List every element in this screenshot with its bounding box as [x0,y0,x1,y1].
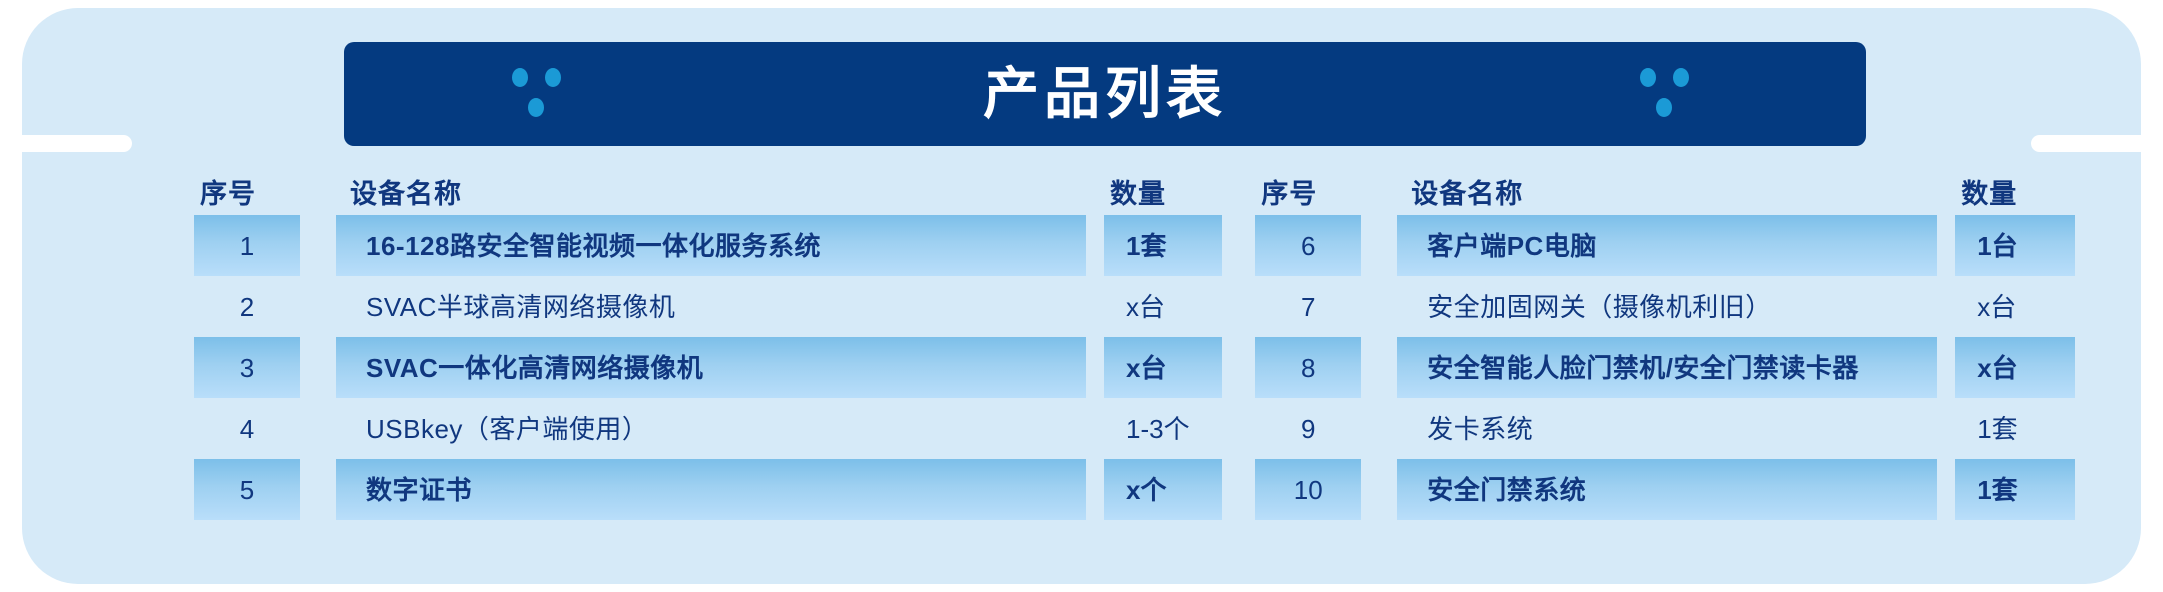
table-row: 7安全加固网关（摄像机利旧）x台 [1255,276,2141,337]
row-device-name-cell: SVAC一体化高清网络摄像机 [336,337,1086,398]
row-index-cell: 6 [1255,215,1361,276]
row-quantity-cell: x个 [1104,459,1222,520]
row-quantity-cell: 1台 [1955,215,2075,276]
product-list-panel: 产品列表 序号 设备名称 数量 116-128路安全智能视频一体化服务系统1套2… [22,8,2141,584]
row-index-cell: 3 [194,337,300,398]
row-quantity-cell: x台 [1955,276,2075,337]
column-header-index: 序号 [1255,172,1361,211]
column-header-quantity: 数量 [1104,172,1222,211]
row-quantity-cell: 1套 [1955,459,2075,520]
table-row: 8安全智能人脸门禁机/安全门禁读卡器x台 [1255,337,2141,398]
row-quantity-cell: 1套 [1955,398,2075,459]
row-device-name-cell: 安全门禁系统 [1397,459,1937,520]
row-index-cell: 9 [1255,398,1361,459]
triangle-dots-icon-right [1640,68,1698,120]
table-row: 4USBkey（客户端使用）1-3个 [194,398,1222,459]
table-header-row-right: 序号 设备名称 数量 [1255,163,2141,215]
row-device-name-cell: USBkey（客户端使用） [336,398,1086,459]
table-row: 3SVAC一体化高清网络摄像机x台 [194,337,1222,398]
row-quantity-cell: 1-3个 [1104,398,1222,459]
table-row: 10安全门禁系统1套 [1255,459,2141,520]
table-row: 6客户端PC电脑1台 [1255,215,2141,276]
row-quantity-cell: x台 [1104,276,1222,337]
row-device-name-cell: 16-128路安全智能视频一体化服务系统 [336,215,1086,276]
product-table-right: 序号 设备名称 数量 6客户端PC电脑1台7安全加固网关（摄像机利旧）x台8安全… [1255,163,2141,520]
column-header-name: 设备名称 [1397,172,1937,211]
row-index-cell: 2 [194,276,300,337]
row-quantity-cell: x台 [1955,337,2075,398]
tables-container: 序号 设备名称 数量 116-128路安全智能视频一体化服务系统1套2SVAC半… [22,163,2141,520]
row-index-cell: 10 [1255,459,1361,520]
row-device-name-cell: 发卡系统 [1397,398,1937,459]
row-device-name-cell: 客户端PC电脑 [1397,215,1937,276]
table-header-row-left: 序号 设备名称 数量 [194,163,1222,215]
column-header-name: 设备名称 [336,172,1086,211]
row-index-cell: 8 [1255,337,1361,398]
panel-notch-right [2031,135,2163,152]
row-quantity-cell: x台 [1104,337,1222,398]
row-index-cell: 1 [194,215,300,276]
row-device-name-cell: 数字证书 [336,459,1086,520]
product-table-left: 序号 设备名称 数量 116-128路安全智能视频一体化服务系统1套2SVAC半… [194,163,1222,520]
row-device-name-cell: 安全加固网关（摄像机利旧） [1397,276,1937,337]
column-header-quantity: 数量 [1955,172,2075,211]
row-index-cell: 7 [1255,276,1361,337]
panel-notch-left [0,135,132,152]
table-row: 2SVAC半球高清网络摄像机x台 [194,276,1222,337]
header-bar: 产品列表 [344,42,1866,146]
table-row: 9发卡系统1套 [1255,398,2141,459]
row-device-name-cell: SVAC半球高清网络摄像机 [336,276,1086,337]
row-device-name-cell: 安全智能人脸门禁机/安全门禁读卡器 [1397,337,1937,398]
row-index-cell: 4 [194,398,300,459]
table-row: 116-128路安全智能视频一体化服务系统1套 [194,215,1222,276]
row-quantity-cell: 1套 [1104,215,1222,276]
column-header-index: 序号 [194,172,300,211]
table-row: 5数字证书x个 [194,459,1222,520]
page-title: 产品列表 [344,66,1866,122]
row-index-cell: 5 [194,459,300,520]
